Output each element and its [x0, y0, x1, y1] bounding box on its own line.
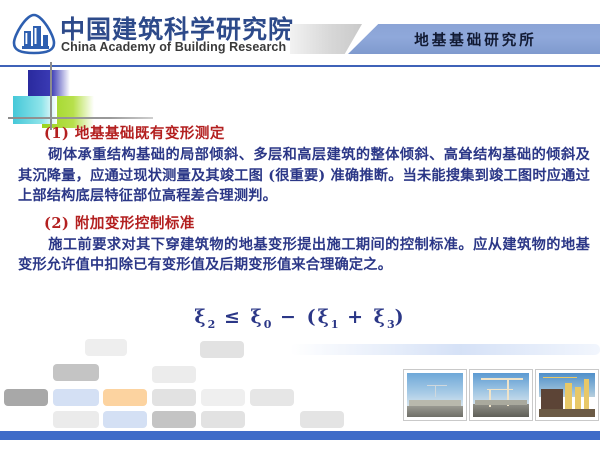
decor-blue-streak [290, 344, 600, 355]
decor-horizontal-line [8, 117, 153, 119]
decor-block [201, 389, 245, 406]
decor-block [152, 411, 196, 428]
decor-block [103, 411, 147, 428]
decor-block [53, 411, 99, 428]
bottom-accent-bar [0, 431, 600, 440]
section-2-paragraph: 施工前要求对其下穿建筑物的地基变形提出施工期间的控制标准。应从建筑物的地基变形允… [18, 235, 590, 276]
decor-block [85, 339, 127, 356]
formula-plus: + [347, 306, 365, 328]
photo-building-under-construction [536, 370, 598, 420]
section-1-paragraph: 砌体承重结构基础的局部倾斜、多层和高层建筑的整体倾斜、高耸结构基础的倾斜及其沉降… [18, 145, 590, 207]
slide: 中国建筑科学研究院 China Academy of Building Rese… [0, 0, 600, 450]
section-2-paragraph-text: 施工前要求对其下穿建筑物的地基变形提出施工期间的控制标准。应从建筑物的地基变形允… [18, 237, 590, 274]
slide-header: 中国建筑科学研究院 China Academy of Building Rese… [0, 0, 600, 66]
formula-open-paren: ( [307, 306, 318, 328]
logo-english-name: China Academy of Building Research [61, 40, 286, 54]
photo-3-image [539, 373, 595, 417]
decor-block [152, 389, 196, 406]
formula-rhs2: ξ [318, 306, 331, 328]
banner-title: 地基基础研究所 [348, 24, 600, 54]
formula-close-paren: ) [395, 306, 406, 328]
photo-construction-site-skyline [404, 370, 466, 420]
decor-block [4, 389, 48, 406]
section-1-heading: (1) 地基基础既有变形测定 [44, 124, 600, 143]
formula-rhs3-sub: 3 [387, 318, 395, 331]
decor-block [201, 411, 245, 428]
decor-block [53, 389, 99, 406]
photo-tower-crane-skyline [470, 370, 532, 420]
decor-block [103, 389, 147, 406]
decor-block [200, 341, 244, 358]
cabr-shield-logo-icon [12, 13, 56, 55]
photo-2-image [473, 373, 529, 417]
decor-block [152, 366, 196, 383]
decor-block [300, 411, 344, 428]
formula-lhs-sub: 2 [208, 318, 216, 331]
formula-operator: − [280, 306, 298, 328]
header-divider [0, 65, 600, 67]
slide-body: (1) 地基基础既有变形测定 砌体承重结构基础的局部倾斜、多层和高层建筑的整体倾… [0, 124, 600, 276]
decor-block [250, 389, 294, 406]
formula-relation: ≤ [224, 306, 242, 328]
formula-rhs1: ξ [250, 306, 263, 328]
formula-rhs3: ξ [374, 306, 387, 328]
formula-rhs1-sub: 0 [264, 318, 272, 331]
formula-rhs2-sub: 1 [331, 318, 339, 331]
formula-lhs: ξ [194, 306, 207, 328]
decor-vertical-line [50, 62, 52, 130]
section-2-heading: (2) 附加变形控制标准 [44, 214, 600, 233]
section-1-paragraph-text: 砌体承重结构基础的局部倾斜、多层和高层建筑的整体倾斜、高耸结构基础的倾斜及其沉降… [18, 147, 590, 204]
decor-block [53, 364, 99, 381]
deformation-formula: ξ2 ≤ ξ0 − (ξ1 + ξ3) [0, 306, 600, 331]
photo-1-image [407, 373, 463, 417]
